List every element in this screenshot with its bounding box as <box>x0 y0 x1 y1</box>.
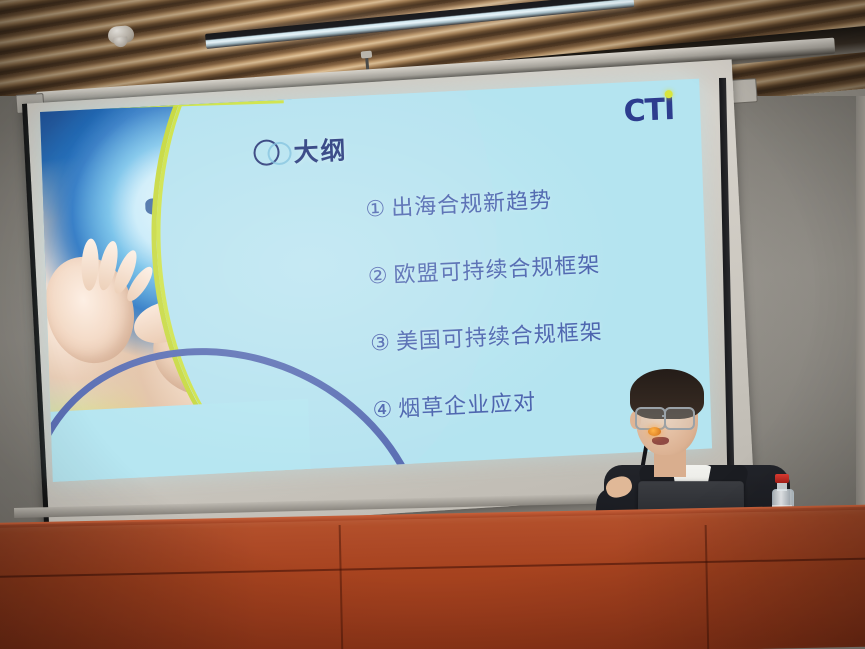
finger <box>81 239 100 291</box>
outline-number: ① <box>365 197 387 223</box>
presenter-mouth <box>652 437 669 445</box>
ring-bullet-icon <box>253 139 280 166</box>
eyeglasses-bridge <box>662 415 666 417</box>
screen-bracket-right <box>730 78 758 104</box>
bottle-cap <box>775 474 789 483</box>
outline-label: 烟草企业应对 <box>398 390 537 422</box>
outline-label: 美国可持续合规框架 <box>396 320 604 355</box>
outline-number: ② <box>367 264 389 290</box>
infant-hand <box>40 247 143 372</box>
conference-room-photo: 大纲 ①出海合规新趋势 ②欧盟可持续合规框架 ③美国可持续合规框架 ④烟草企业应… <box>0 0 865 649</box>
outline-item-3: ③美国可持续合规框架 <box>370 314 604 358</box>
outline-number: ③ <box>370 331 392 357</box>
podium-front-panel <box>0 506 865 649</box>
outline-item-2: ②欧盟可持续合规框架 <box>367 247 601 291</box>
eyeglasses-lens-right <box>664 407 695 430</box>
slide-title: 大纲 <box>293 131 348 170</box>
wall-right-edge <box>856 96 865 536</box>
outline-item-4: ④烟草企业应对 <box>372 381 606 425</box>
microphone-capsule-icon <box>648 427 661 436</box>
outline-label: 欧盟可持续合规框架 <box>393 253 601 288</box>
outline-label: 出海合规新趋势 <box>391 188 553 221</box>
slide-title-row: 大纲 <box>253 131 348 172</box>
outline-number: ④ <box>372 398 394 424</box>
outline-list: ①出海合规新趋势 ②欧盟可持续合规框架 ③美国可持续合规框架 ④烟草企业应对 <box>365 180 607 460</box>
dome-sensor-icon <box>107 25 134 44</box>
